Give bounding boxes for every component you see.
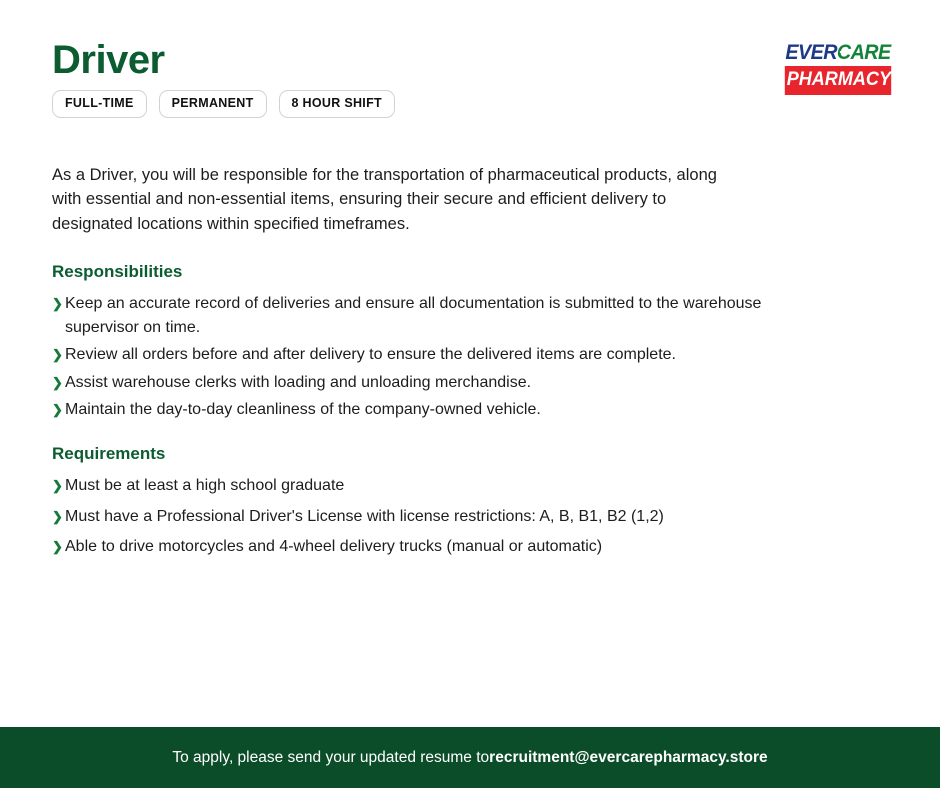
footer-apply-bar: To apply, please send your updated resum… (0, 727, 940, 788)
list-item: ❯Able to drive motorcycles and 4-wheel d… (52, 535, 812, 559)
chevron-right-icon: ❯ (52, 398, 63, 421)
page-title: Driver (52, 40, 165, 80)
list-item: ❯Assist warehouse clerks with loading an… (52, 371, 785, 395)
list-item: ❯Must be at least a high school graduate (52, 474, 812, 498)
list-item-text: Able to drive motorcycles and 4-wheel de… (65, 538, 602, 555)
section-heading-responsibilities: Responsibilities (52, 262, 812, 282)
logo-wordmark: EVERCARE (785, 42, 890, 63)
logo-care-label: CARE (837, 41, 891, 64)
list-item: ❯Must have a Professional Driver's Licen… (52, 505, 812, 529)
chevron-right-icon: ❯ (52, 535, 63, 558)
list-item: ❯Maintain the day-to-day cleanliness of … (52, 398, 785, 422)
list-item-text: Review all orders before and after deliv… (65, 346, 676, 363)
list-item-text: Maintain the day-to-day cleanliness of t… (65, 401, 541, 418)
job-description-intro: As a Driver, you will be responsible for… (52, 163, 722, 236)
section-responsibilities: Responsibilities ❯Keep an accurate recor… (52, 262, 812, 422)
badge-shift: 8 HOUR SHIFT (279, 90, 395, 118)
logo-subtitle: PHARMACY (785, 66, 891, 95)
chevron-right-icon: ❯ (52, 292, 63, 315)
chevron-right-icon: ❯ (52, 343, 63, 366)
responsibilities-list: ❯Keep an accurate record of deliveries a… (52, 292, 812, 422)
logo-text-care: CARE (837, 42, 891, 63)
main-content: As a Driver, you will be responsible for… (52, 163, 812, 581)
list-item-text: Must have a Professional Driver's Licens… (65, 508, 664, 525)
logo-text-ever: EVER (785, 42, 837, 63)
list-item-text: Assist warehouse clerks with loading and… (65, 374, 531, 391)
chevron-right-icon: ❯ (52, 474, 63, 497)
footer-message: To apply, please send your updated resum… (172, 750, 489, 766)
header: Driver FULL-TIME PERMANENT 8 HOUR SHIFT … (0, 0, 940, 140)
chevron-right-icon: ❯ (52, 505, 63, 528)
section-heading-requirements: Requirements (52, 444, 812, 464)
list-item-text: Must be at least a high school graduate (65, 477, 344, 494)
job-attribute-badges: FULL-TIME PERMANENT 8 HOUR SHIFT (52, 90, 395, 118)
chevron-right-icon: ❯ (52, 371, 63, 394)
section-requirements: Requirements ❯Must be at least a high sc… (52, 444, 812, 559)
list-item: ❯Review all orders before and after deli… (52, 343, 785, 367)
footer-email-link[interactable]: recruitment@evercarepharmacy.store (489, 749, 767, 767)
badge-full-time: FULL-TIME (52, 90, 147, 118)
badge-permanent: PERMANENT (159, 90, 267, 118)
list-item-text: Keep an accurate record of deliveries an… (65, 295, 761, 336)
list-item: ❯Keep an accurate record of deliveries a… (52, 292, 785, 339)
requirements-list: ❯Must be at least a high school graduate… (52, 474, 812, 559)
company-logo: EVERCARE PHARMACY (782, 42, 894, 95)
job-posting-page: Driver FULL-TIME PERMANENT 8 HOUR SHIFT … (0, 0, 940, 788)
